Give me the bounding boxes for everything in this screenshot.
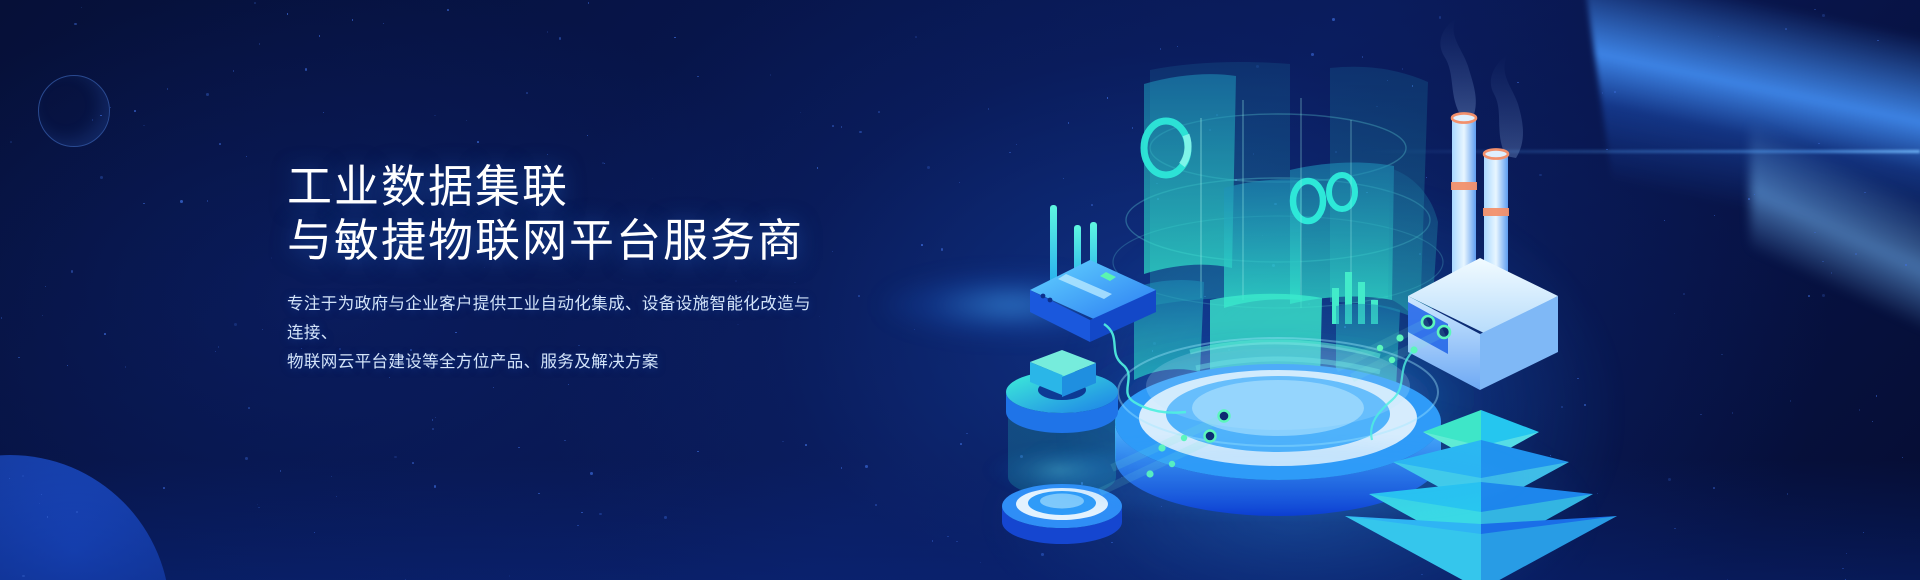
subtitle-line-2: 物联网云平台建设等全方位产品、服务及解决方案: [287, 348, 817, 377]
data-beam-right: [1336, 322, 1444, 378]
wireless-router: [1030, 205, 1186, 413]
layered-pyramid: [1345, 410, 1617, 580]
title-line-1: 工业数据集联: [287, 160, 847, 214]
data-cable-router: [1104, 324, 1186, 413]
subtitle-line-1: 专注于为政府与企业客户提供工业自动化集成、设备设施智能化改造与连接、: [287, 290, 817, 348]
bottom-haze: [0, 460, 1920, 580]
holographic-data-tower: [1113, 62, 1443, 388]
data-cable-factory: [1371, 352, 1412, 440]
bar-chart-glyph: [1332, 272, 1378, 324]
hero-banner: 工业数据集联 与敏捷物联网平台服务商 专注于为政府与企业客户提供工业自动化集成、…: [0, 0, 1920, 580]
base-glow: [980, 390, 1600, 580]
title-line-2: 与敏捷物联网平台服务商: [287, 214, 847, 268]
title-accent-glow: [880, 270, 1140, 340]
center-glow: [1060, 180, 1620, 580]
light-streak-primary: [1566, 0, 1920, 363]
light-streak-horizontal: [1360, 150, 1920, 153]
data-beam-left: [1100, 411, 1230, 493]
factory-base-cube: [1336, 258, 1558, 440]
donut-chart-cylinder: [982, 350, 1230, 544]
glowing-platform-disc: [1063, 330, 1493, 516]
light-streak-secondary: [1750, 40, 1920, 400]
hero-copy: 工业数据集联 与敏捷物联网平台服务商 专注于为政府与企业客户提供工业自动化集成、…: [287, 160, 847, 377]
small-disc-pad: [1002, 484, 1122, 544]
factory-chimneys: [1440, 18, 1523, 320]
page-subtitle: 专注于为政府与企业客户提供工业自动化集成、设备设施智能化改造与连接、 物联网云平…: [287, 290, 817, 377]
page-title: 工业数据集联 与敏捷物联网平台服务商: [287, 160, 847, 268]
planet-sphere: [0, 455, 170, 580]
moon-outline-icon: [38, 75, 110, 147]
